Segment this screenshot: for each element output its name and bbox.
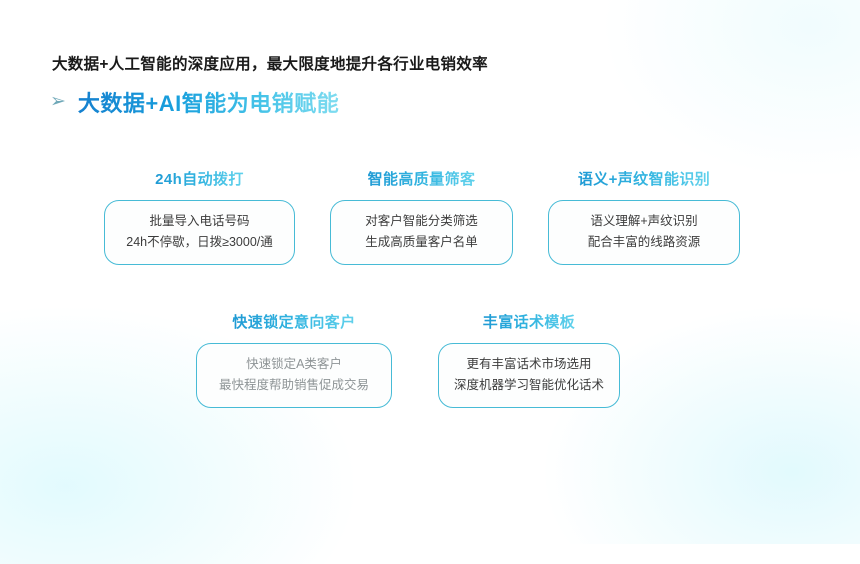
feature-card-box: 语义理解+声纹识别 配合丰富的线路资源 (548, 200, 740, 265)
chevron-right-arrow-icon: ➢ (50, 92, 66, 111)
feature-card-line: 配合丰富的线路资源 (588, 236, 701, 250)
feature-card-line: 生成高质量客户名单 (365, 236, 478, 250)
slide-subtitle: 大数据+人工智能的深度应用，最大限度地提升各行业电销效率 (52, 52, 488, 74)
feature-card-box: 批量导入电话号码 24h不停歇，日拨≥3000/通 (104, 200, 295, 265)
feature-card-box: 更有丰富话术市场选用 深度机器学习智能优化话术 (438, 343, 620, 408)
feature-card-24h-auto-dial: 24h自动拨打 批量导入电话号码 24h不停歇，日拨≥3000/通 (104, 168, 295, 265)
feature-card-box: 对客户智能分类筛选 生成高质量客户名单 (330, 200, 513, 265)
slide-heading-label: 大数据+AI智能为电销赋能 (78, 86, 339, 118)
feature-card-line: 语义理解+声纹识别 (590, 215, 697, 229)
feature-card-title: 丰富话术模板 (483, 311, 575, 332)
feature-card-line: 对客户智能分类筛选 (365, 215, 478, 229)
slide-canvas: 大数据+人工智能的深度应用，最大限度地提升各行业电销效率 ➢ 大数据+AI智能为… (0, 0, 860, 484)
feature-card-line: 24h不停歇，日拨≥3000/通 (126, 236, 273, 250)
feature-card-title: 智能高质量筛客 (368, 168, 476, 189)
slide-heading: ➢ 大数据+AI智能为电销赋能 (50, 86, 339, 118)
feature-card-title: 语义+声纹智能识别 (578, 168, 710, 189)
feature-card-smart-screening: 智能高质量筛客 对客户智能分类筛选 生成高质量客户名单 (330, 168, 513, 265)
feature-card-line: 最快程度帮助销售促成交易 (219, 379, 369, 393)
feature-card-line: 批量导入电话号码 (149, 215, 249, 229)
feature-card-box: 快速锁定A类客户 最快程度帮助销售促成交易 (196, 343, 392, 408)
feature-card-title: 快速锁定意向客户 (232, 311, 355, 332)
feature-card-line: 更有丰富话术市场选用 (466, 358, 591, 372)
feature-card-line: 快速锁定A类客户 (246, 358, 342, 372)
feature-card-title: 24h自动拨打 (155, 168, 244, 189)
feature-card-line: 深度机器学习智能优化话术 (454, 379, 604, 393)
feature-card-rich-script-template: 丰富话术模板 更有丰富话术市场选用 深度机器学习智能优化话术 (438, 311, 620, 408)
feature-card-semantic-voiceprint: 语义+声纹智能识别 语义理解+声纹识别 配合丰富的线路资源 (548, 168, 740, 265)
feature-card-lock-intent-customer: 快速锁定意向客户 快速锁定A类客户 最快程度帮助销售促成交易 (196, 311, 392, 408)
